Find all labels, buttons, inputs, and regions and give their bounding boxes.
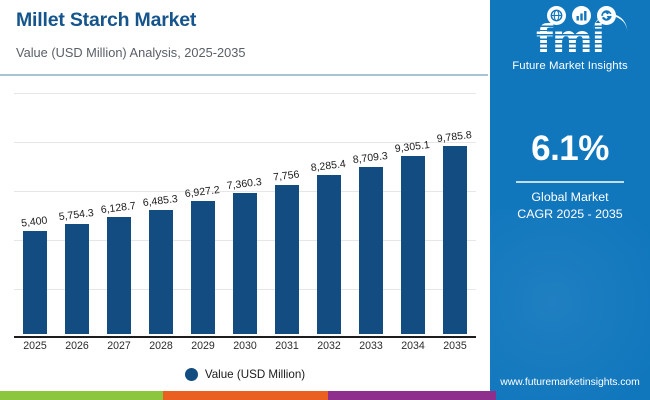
website-url: www.futuremarketinsights.com <box>490 377 650 388</box>
x-axis-tick-2027: 2027 <box>98 340 140 352</box>
fmi-logo: fmi Future Market Insights <box>490 4 650 72</box>
x-axis-labels: 2025202620272028202920302031203220332034… <box>14 340 476 356</box>
x-axis-tick-2030: 2030 <box>224 340 266 352</box>
bar-slot: 8,285.4 <box>308 88 350 334</box>
bar-value-label: 8,285.4 <box>310 158 346 174</box>
bar[interactable]: 6,485.3 <box>149 210 173 335</box>
page-title: Millet Starch Market <box>16 9 196 32</box>
bar-value-label: 9,305.1 <box>394 139 430 155</box>
bar-slot: 6,485.3 <box>140 88 182 334</box>
strip-segment-purple <box>328 391 490 400</box>
bar-value-label: 9,785.8 <box>436 129 472 145</box>
market-infographic: Millet Starch Market Value (USD Million)… <box>0 0 650 400</box>
bar-value-label: 6,485.3 <box>142 193 178 209</box>
cagr-caption-line2: CAGR 2025 - 2035 <box>490 207 650 221</box>
bar-slot: 9,785.8 <box>434 88 476 334</box>
x-axis-tick-2033: 2033 <box>350 340 392 352</box>
x-axis-tick-2025: 2025 <box>14 340 56 352</box>
logo-tagline: Future Market Insights <box>490 60 650 72</box>
cagr-value: 6.1% <box>490 130 650 168</box>
bar[interactable]: 9,785.8 <box>443 146 467 334</box>
chart-header: Millet Starch Market Value (USD Million)… <box>0 0 490 76</box>
bar-slot: 5,754.3 <box>56 88 98 334</box>
legend-swatch-icon <box>185 368 198 381</box>
bar[interactable]: 8,285.4 <box>317 175 341 334</box>
bar[interactable]: 5,754.3 <box>65 224 89 335</box>
logo-wordmark-text: fmi <box>536 18 604 63</box>
x-axis-tick-2028: 2028 <box>140 340 182 352</box>
x-axis-tick-2029: 2029 <box>182 340 224 352</box>
bar[interactable]: 6,927.2 <box>191 201 215 334</box>
bar-value-label: 5,400 <box>20 214 48 229</box>
x-axis-tick-2035: 2035 <box>434 340 476 352</box>
x-axis-tick-2026: 2026 <box>56 340 98 352</box>
page-subtitle: Value (USD Million) Analysis, 2025-2035 <box>16 45 246 60</box>
bar[interactable]: 6,128.7 <box>107 217 131 335</box>
chart-legend: Value (USD Million) <box>0 364 490 384</box>
brand-panel: fmi Future Market Insights 6.1% Global M… <box>490 0 650 400</box>
bar-value-label: 5,754.3 <box>58 207 94 223</box>
x-axis-tick-2031: 2031 <box>266 340 308 352</box>
x-axis-tick-2032: 2032 <box>308 340 350 352</box>
bar-value-label: 7,360.3 <box>226 176 262 192</box>
bar-slot: 8,709.3 <box>350 88 392 334</box>
chart-pane: Millet Starch Market Value (USD Million)… <box>0 0 490 400</box>
bottom-color-strip <box>0 391 490 400</box>
bar[interactable]: 8,709.3 <box>359 167 383 334</box>
bar[interactable]: 5,400 <box>23 231 47 335</box>
header-divider <box>0 74 488 76</box>
logo-wordmark: fmi <box>490 20 650 62</box>
bar-slot: 9,305.1 <box>392 88 434 334</box>
strip-segment-orange <box>163 391 328 400</box>
bar-value-label: 6,927.2 <box>184 184 220 200</box>
bar[interactable]: 7,360.3 <box>233 193 257 334</box>
x-axis-tick-2034: 2034 <box>392 340 434 352</box>
bar[interactable]: 7,756 <box>275 185 299 334</box>
bar-slot: 7,756 <box>266 88 308 334</box>
bar-series: 5,4005,754.36,128.76,485.36,927.27,360.3… <box>14 90 476 336</box>
x-axis-line <box>14 336 476 338</box>
cagr-divider <box>516 181 624 183</box>
bar-slot: 6,927.2 <box>182 88 224 334</box>
bar-value-label: 6,128.7 <box>100 200 136 216</box>
cagr-caption-line1: Global Market <box>490 190 650 204</box>
bar-slot: 7,360.3 <box>224 88 266 334</box>
plot-area: 5,4005,754.36,128.76,485.36,927.27,360.3… <box>14 90 476 338</box>
strip-segment-purple-right <box>490 391 496 400</box>
strip-segment-green <box>0 391 163 400</box>
bar-value-label: 7,756 <box>272 169 300 184</box>
bar-slot: 6,128.7 <box>98 88 140 334</box>
bar[interactable]: 9,305.1 <box>401 156 425 335</box>
legend-label: Value (USD Million) <box>205 368 305 381</box>
bar-slot: 5,400 <box>14 88 56 334</box>
bar-value-label: 8,709.3 <box>352 150 388 166</box>
